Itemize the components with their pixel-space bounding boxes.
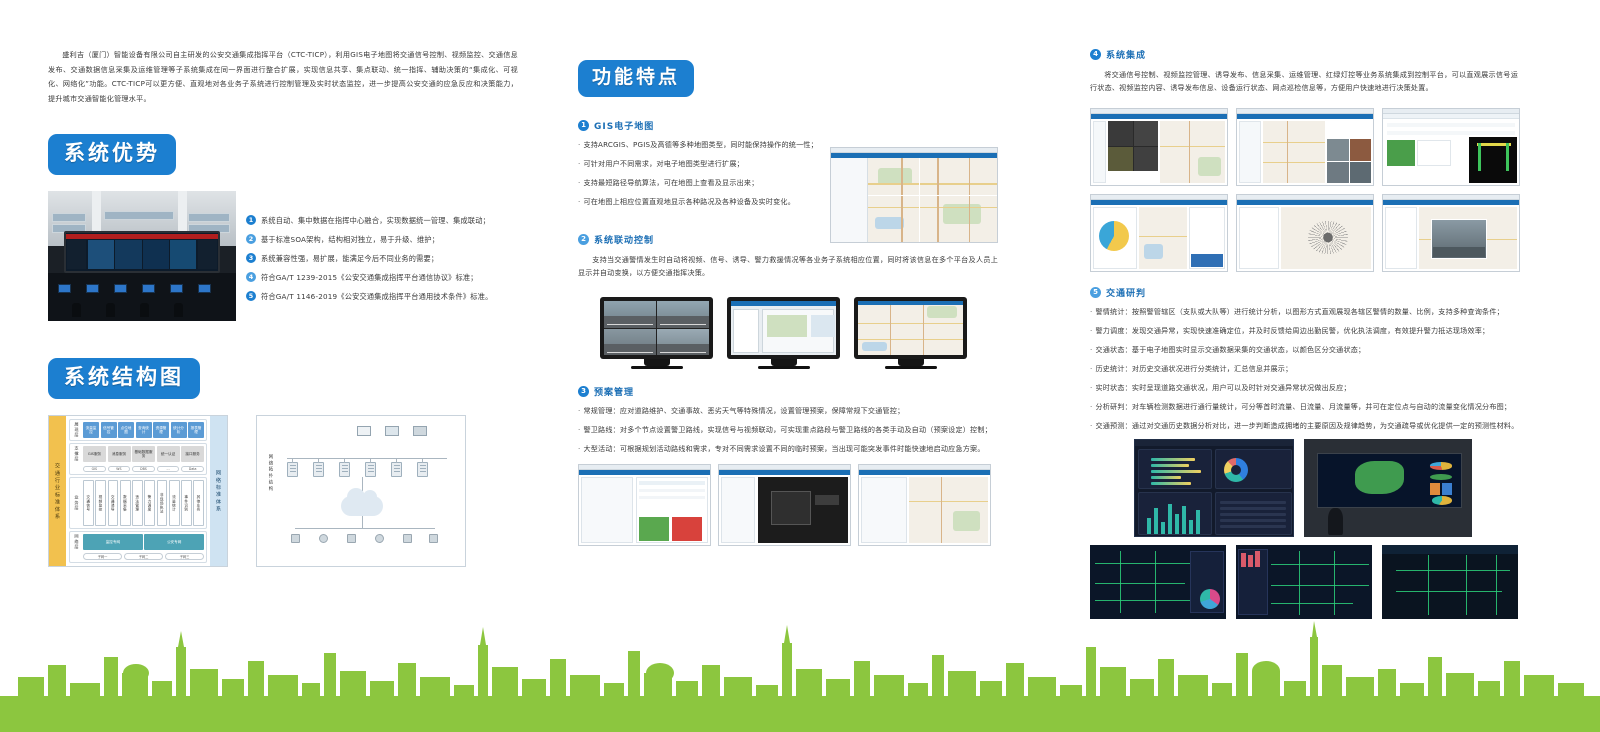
feature-bullet: 常规管理：应对道路维护、交通事故、恶劣天气等特殊情况，设置管理预案，保障常规下交…	[578, 405, 998, 416]
analysis-bullet: 交通状态：基于电子地图实时显示交通数据采集的交通状态，以颜色区分交通状态；	[1090, 344, 1520, 355]
layer-chip: 非现场执法	[157, 480, 168, 526]
list-item: 5 符合GA/T 1146-2019《公安交通集成指挥平台通用技术条件》标准。	[246, 291, 518, 302]
layer-chip: 点位地图	[118, 422, 134, 438]
layer-chip: 报表管理	[188, 422, 204, 438]
advantage-text-2: 基于标准SOA架构，结构相对独立，易于升级、维护；	[261, 234, 439, 245]
bullet-number-4: 4	[246, 272, 256, 282]
data-dashboard-screenshot	[1134, 439, 1294, 537]
advantage-text-1: 系统自动、集中数据在指挥中心融合，实现数据统一管理、集成联动；	[261, 215, 490, 226]
layer-chip: GIS服务	[83, 446, 106, 462]
network-topology-label: 网络拓扑结构	[261, 454, 273, 492]
feature-number-1: 1	[578, 120, 589, 131]
traffic-flow-screenshot	[1236, 545, 1372, 619]
middle-column: 功能特点 1 GIS电子地图 支持ARCGIS、PGIS及高德等多种地图类型，同…	[578, 60, 998, 546]
analysis-title: 交通研判	[1106, 286, 1146, 299]
layer-chip: 消息服务	[108, 446, 131, 462]
monitor-control-ui	[727, 297, 840, 359]
section-number-4: 4	[1090, 49, 1101, 60]
feature-title-1: GIS电子地图	[594, 119, 654, 132]
section-heading-structure: 系统结构图	[48, 358, 200, 399]
analysis-bullet: 实时状态：实时呈现道路交通状况，用户可以及时针对交通异常状况做出反应；	[1090, 382, 1520, 393]
advantage-list: 1 系统自动、集中数据在指挥中心融合，实现数据统一管理、集成联动； 2 基于标准…	[246, 215, 518, 310]
integration-shot-6	[1382, 194, 1520, 272]
night-roadnet-screenshot	[1090, 545, 1226, 619]
analysis-image-row-1	[1090, 439, 1520, 537]
monitor-map-ui	[854, 297, 967, 359]
layer-chip: 交通信号	[83, 480, 94, 526]
layer-label: 展现层	[72, 422, 81, 438]
advantage-text-3: 系统兼容性强，易扩展，能满足今后不同业务的需要；	[261, 253, 438, 264]
architecture-left-axis-label: 交通行业标准体系	[49, 416, 66, 566]
list-item: 1 系统自动、集中数据在指挥中心融合，实现数据统一管理、集成联动；	[246, 215, 518, 226]
gis-map-screenshot	[830, 147, 998, 243]
integration-screenshot-grid	[1090, 108, 1520, 272]
brochure-page: 盛利吉（厦门）智能设备有限公司自主研发的公安交通集成指挥平台（CTC-TICP）…	[0, 0, 1600, 732]
feature-number-2: 2	[578, 234, 589, 245]
list-item: 2 基于标准SOA架构，结构相对独立，易于升级、维护；	[246, 234, 518, 245]
support-sub-chip: ...	[157, 466, 180, 472]
analysis-bullet: 警情统计：按照警管辖区（支队或大队等）进行统计分析，以图形方式直观展现各辖区警情…	[1090, 306, 1520, 317]
bullet-number-5: 5	[246, 291, 256, 301]
feature-heading-plan: 3 预案管理	[578, 385, 998, 398]
bullet-number-2: 2	[246, 234, 256, 244]
layer-label: 支撑层	[72, 446, 81, 462]
analysis-bullet: 警力调度：发现交通异常，实现快速准确定位，并及时反馈给周边出勤民警，优化执法调度…	[1090, 325, 1520, 336]
architecture-layer-presentation: 展现层 流量监控 信号管控 点位地图 查询统计 资源管理 统计分析 报表管理	[69, 419, 207, 441]
integration-shot-2	[1236, 108, 1374, 186]
layer-chip: 统计分析	[171, 422, 187, 438]
layer-chip: 流量统计	[169, 480, 180, 526]
layer-chip: 查询统计	[136, 422, 152, 438]
integration-shot-3	[1382, 108, 1520, 186]
feature-bullet: 可针对用户不同需求，对电子地图类型进行扩展；	[578, 158, 828, 169]
monitor-video-wall	[600, 297, 713, 359]
layer-chip: 基础数据服务	[132, 446, 155, 462]
architecture-right-axis-label: 网络标准体系	[210, 416, 227, 566]
layer-chip: 接口服务	[181, 446, 204, 462]
support-sub-chip: Data	[181, 466, 204, 472]
network-topology-diagram: 网络拓扑结构	[256, 415, 466, 567]
architecture-layer-support: 支撑层 GIS服务 消息服务 基础数据服务 统一认证 接口服务 GIS	[69, 443, 207, 474]
plan-exec-screenshot	[858, 464, 991, 546]
layer-chip: 公安专网	[144, 534, 204, 550]
network-sub-chip: 子网三	[165, 553, 204, 560]
integration-title: 系统集成	[1106, 48, 1146, 61]
layer-chip: 数据采集	[120, 480, 131, 526]
bullet-number-3: 3	[246, 253, 256, 263]
layer-chip: 监控专网	[83, 534, 143, 550]
support-sub-chip: DBS	[132, 466, 155, 472]
integration-shot-5	[1236, 194, 1374, 272]
list-item: 3 系统兼容性强，易扩展，能满足今后不同业务的需要；	[246, 253, 518, 264]
video-wall	[64, 231, 220, 273]
plan-list-screenshot	[578, 464, 711, 546]
support-sub-chip: WS	[108, 466, 131, 472]
bullet-number-1: 1	[246, 215, 256, 225]
plan-editor-screenshot	[718, 464, 851, 546]
network-sub-chip: 子网一	[83, 553, 122, 560]
feature-bullet: 支持最短路径导航算法，可在地图上查看及显示出来；	[578, 177, 828, 188]
skyline-footer-decoration	[0, 617, 1600, 732]
system-architecture-diagram: 交通行业标准体系 展现层 流量监控 信号管控 点位地图 查询统计 资源管理 统计…	[48, 415, 466, 567]
right-column: 4 系统集成 将交通信号控制、视频监控管理、诱导发布、信息采集、运维管理、红绿灯…	[1090, 48, 1520, 619]
analysis-bullet: 历史统计：对历史交通状况进行分类统计，汇总信息并展示；	[1090, 363, 1520, 374]
feature-number-3: 3	[578, 386, 589, 397]
layer-chip: 交通诱导	[108, 480, 119, 526]
support-sub-chip: GIS	[83, 466, 106, 472]
analysis-heading: 5 交通研判	[1090, 286, 1520, 299]
layer-chip: 违法管理	[132, 480, 143, 526]
monitor-row	[578, 297, 998, 359]
command-center-photo	[48, 191, 236, 321]
integration-shot-1	[1090, 108, 1228, 186]
layer-chip: 统一认证	[157, 446, 180, 462]
feature-paragraph-2: 支持当交通警情发生时自动将视频、信号、诱导、警力救援情况等各业务子系统相应位置，…	[578, 253, 998, 279]
analysis-image-row-2	[1090, 545, 1520, 619]
analysis-bullet: 分析研判：对车辆检测数据进行通行量统计，可分等首时流量、日流量、月流量等，并可在…	[1090, 401, 1520, 412]
city-roadnet-screenshot	[1382, 545, 1518, 619]
list-item: 4 符合GA/T 1239-2015《公安交通集成指挥平台通信协议》标准；	[246, 272, 518, 283]
network-sub-chip: 子网二	[124, 553, 163, 560]
architecture-layers: 交通行业标准体系 展现层 流量监控 信号管控 点位地图 查询统计 资源管理 统计…	[48, 415, 228, 567]
advantage-text-5: 符合GA/T 1146-2019《公安交通集成指挥平台通用技术条件》标准。	[261, 291, 492, 302]
analysis-bullets: 警情统计：按照警管辖区（支队或大队等）进行统计分析，以图形方式直观展现各辖区警情…	[1090, 306, 1520, 431]
integration-shot-4	[1090, 194, 1228, 272]
layer-label: 业务层	[72, 480, 81, 526]
feature-bullet: 大型活动：可根据规划活动路线和需求，专对不同需求设置不同的临时预案，当出现可能突…	[578, 443, 998, 454]
plan-screenshot-row	[578, 464, 998, 546]
layer-chip: 其他业务	[193, 480, 204, 526]
architecture-layer-network: 网络层 监控专网 公安专网 子网一 子网二 子网三	[69, 531, 207, 563]
feature-title-2: 系统联动控制	[594, 233, 654, 246]
feature-bullet: 可在地图上相应位置直观地显示各种路况及各种设备及实时变化。	[578, 196, 828, 207]
layer-chip: 事件识别	[181, 480, 192, 526]
section-heading-features: 功能特点	[578, 60, 694, 97]
integration-paragraph: 将交通信号控制、视频监控管理、诱导发布、信息采集、运维管理、红绿灯控等业务系统集…	[1090, 68, 1518, 94]
section-heading-advantage: 系统优势	[48, 134, 176, 175]
layer-chip: 警力调度	[144, 480, 155, 526]
section-number-5: 5	[1090, 287, 1101, 298]
skyline-graphic	[0, 617, 1600, 732]
left-column: 盛利吉（厦门）智能设备有限公司自主研发的公安交通集成指挥平台（CTC-TICP）…	[48, 48, 518, 567]
command-hall-photo	[1304, 439, 1472, 537]
advantage-text-4: 符合GA/T 1239-2015《公安交通集成指挥平台通信协议》标准；	[261, 272, 478, 283]
feature-bullet: 支持ARCGIS、PGIS及高德等多种地图类型，同时能保持操作的统一性；	[578, 139, 828, 150]
feature-bullet: 警卫路线：对多个节点设置警卫路线，实现信号与视频联动，可实现重点路段与警卫路线的…	[578, 424, 998, 435]
layer-label: 网络层	[72, 534, 81, 550]
integration-heading: 4 系统集成	[1090, 48, 1520, 61]
layer-chip: 信号管控	[101, 422, 117, 438]
intro-paragraph: 盛利吉（厦门）智能设备有限公司自主研发的公安交通集成指挥平台（CTC-TICP）…	[48, 48, 518, 106]
architecture-layer-business: 业务层 交通信号 视频监控 交通诱导 数据采集 违法管理 警力调度 非现场执法 …	[69, 477, 207, 529]
feature-title-3: 预案管理	[594, 385, 634, 398]
analysis-bullet: 交通预测：通过对交通历史数据分析对比，进一步判断造成拥堵的主要原因及规律趋势，为…	[1090, 420, 1520, 431]
feature-heading-gis: 1 GIS电子地图	[578, 119, 828, 132]
layer-chip: 流量监控	[83, 422, 99, 438]
layer-chip: 视频监控	[95, 480, 106, 526]
layer-chip: 资源管理	[153, 422, 169, 438]
